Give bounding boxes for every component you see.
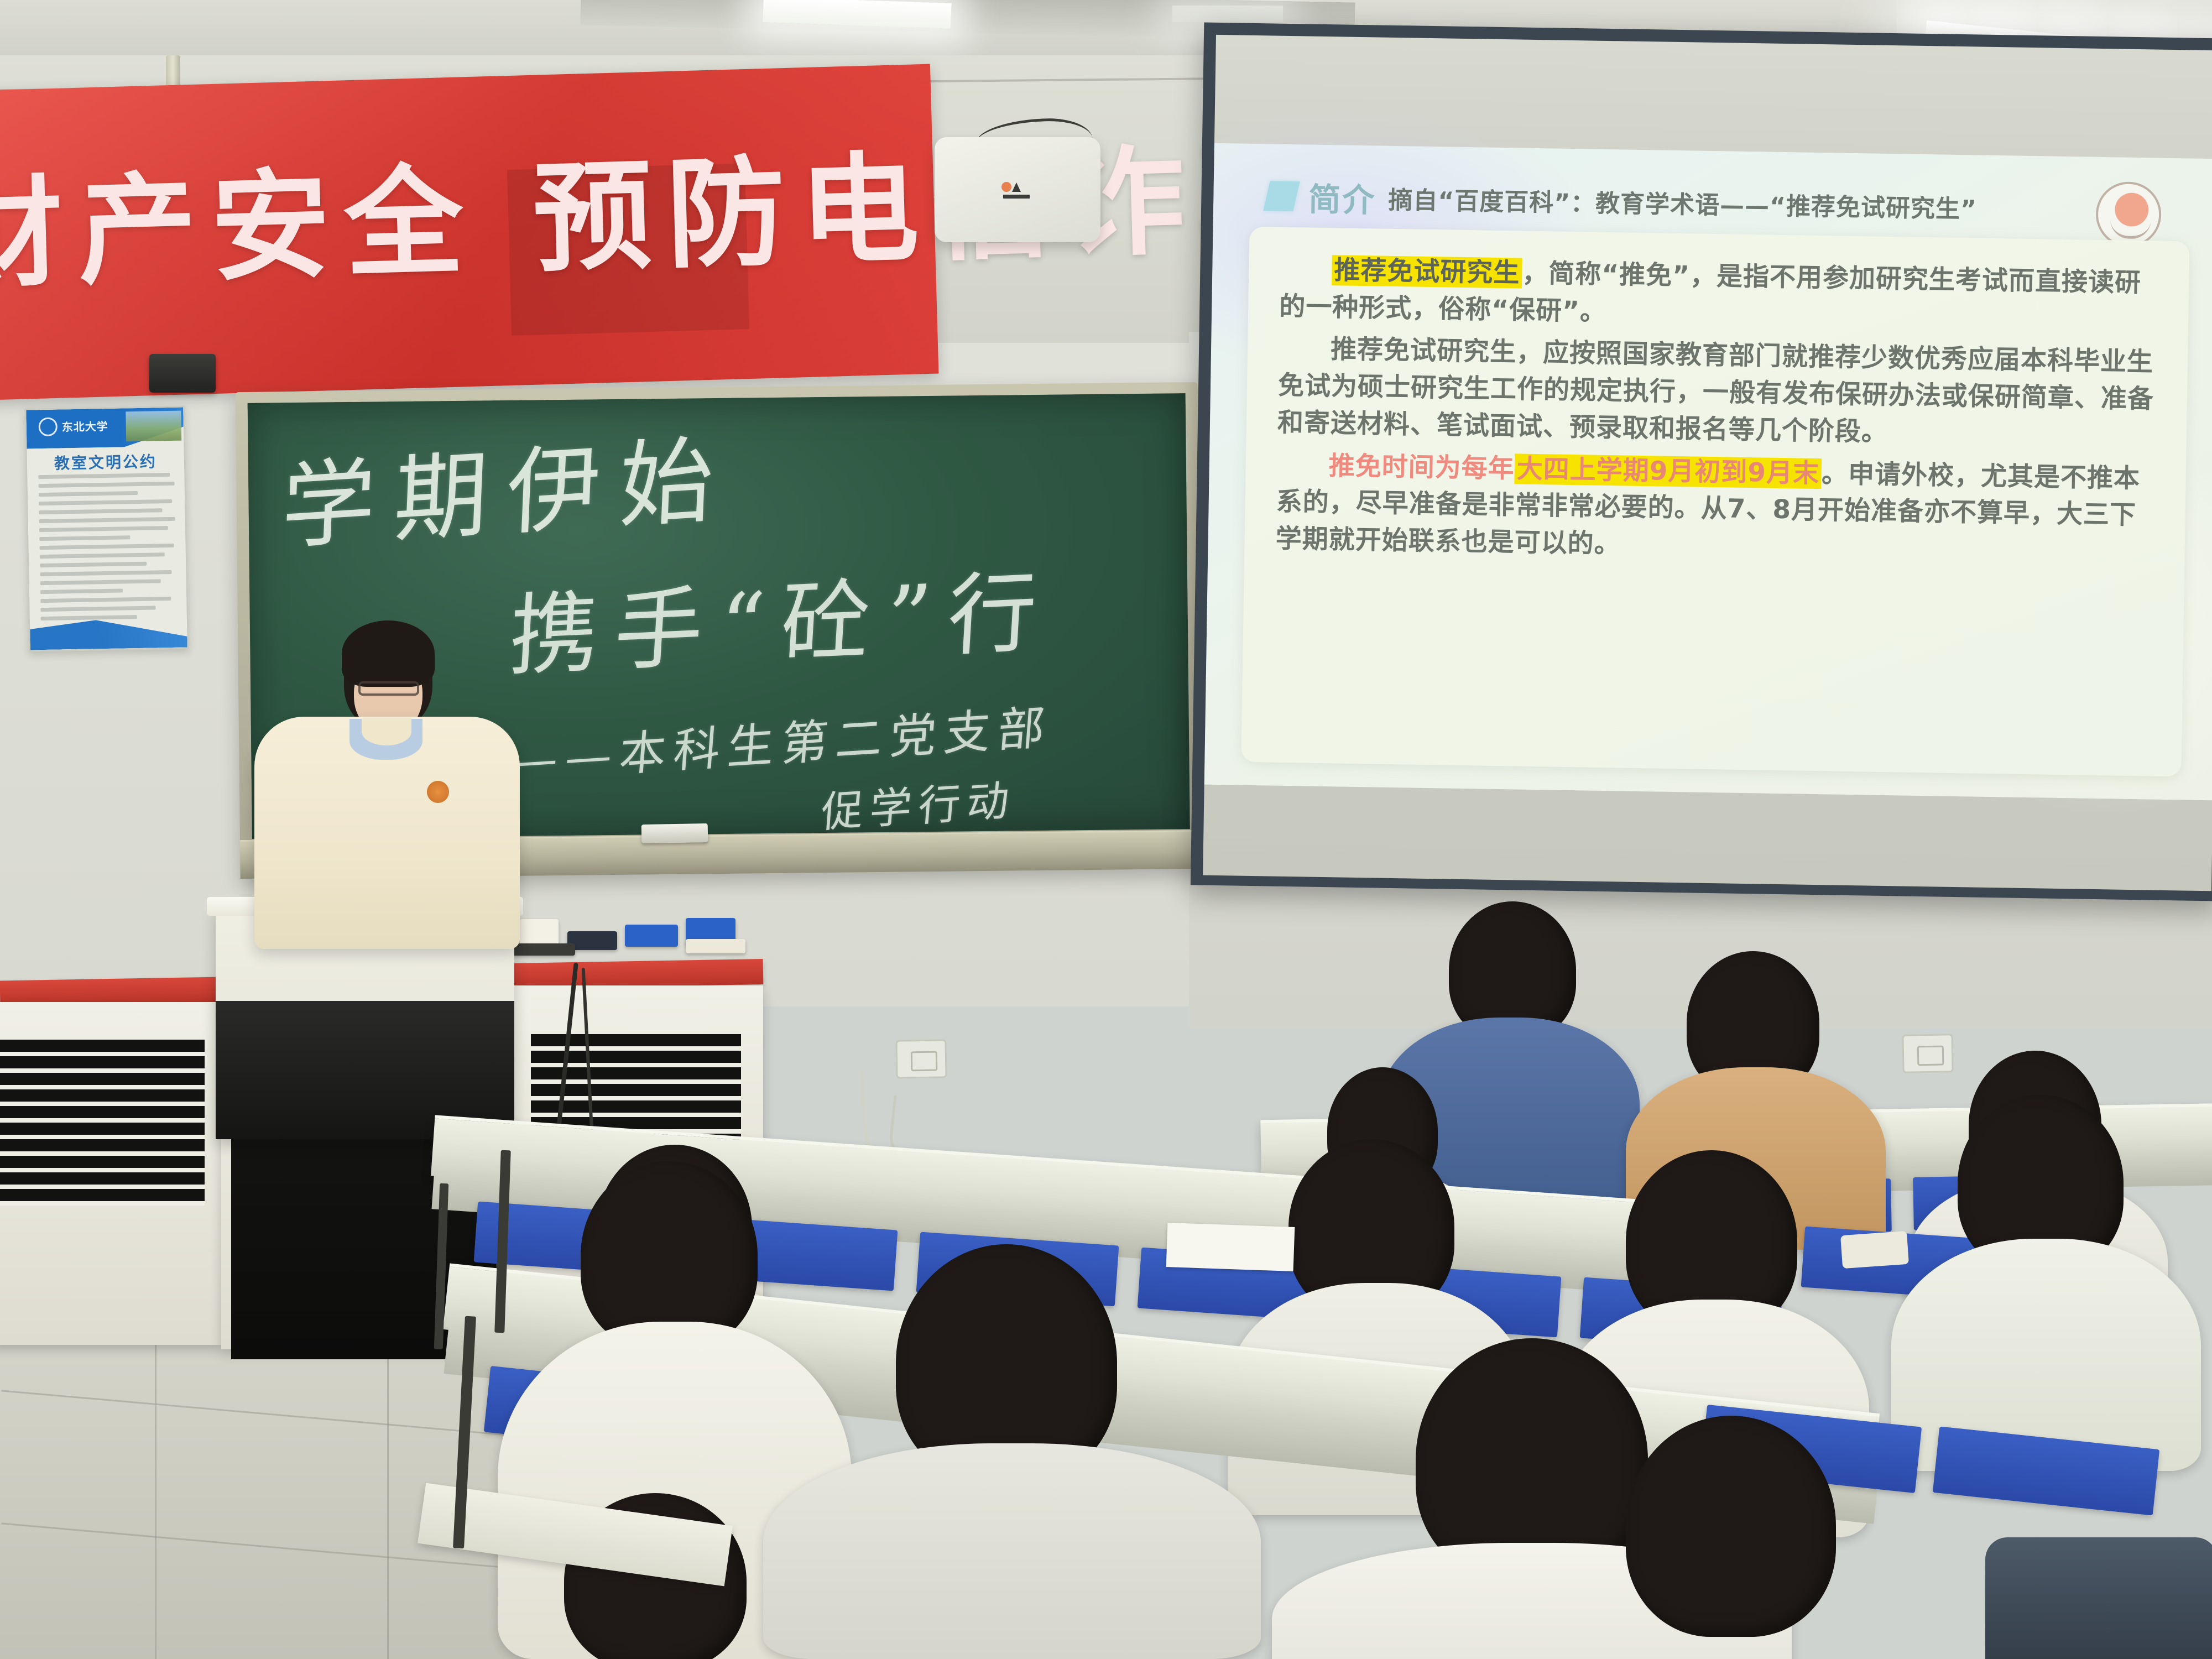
presentation-slide: 简介 摘自“百度百科”：教育学术语——“推荐免试研究生” 推荐免试研究生，简称“… (1204, 143, 2212, 801)
projection-screen: 简介 摘自“百度百科”：教育学术语——“推荐免试研究生” 推荐免试研究生，简称“… (1191, 22, 2212, 901)
slide-p1-highlight: 推荐免试研究生 (1332, 255, 1522, 288)
backpack (1985, 1537, 2212, 1659)
student-torso (763, 1443, 1261, 1659)
slide-paragraph-1: 推荐免试研究生，简称“推免”，是指不用参加研究生考试而直接读研的一种形式，俗称“… (1279, 252, 2158, 339)
slide-paragraph-2: 推荐免试研究生，应按照国家教育部门就推荐少数优秀应届本科毕业生免试为硕士研究生工… (1277, 331, 2157, 455)
slide-paragraph-3: 推免时间为每年大四上学期9月初到9月末。申请外校，尤其是不推本系的，尽早准备是非… (1275, 447, 2155, 571)
slide-header-keyword: 简介 (1308, 174, 1376, 221)
chalkboard-eraser (641, 823, 708, 843)
slide-header: 简介 摘自“百度百科”：教育学术语——“推荐免试研究生” (1266, 173, 1978, 230)
wall-outlet (1902, 1034, 1953, 1073)
chalk-line-4: 促学行动 (819, 766, 1018, 839)
slide-p3-red-highlight: 大四上学期9月初到9月末 (1514, 453, 1822, 489)
presenter-sweater-neckline (362, 718, 411, 745)
presenter-badge (427, 781, 449, 803)
slide-organization-logo-icon (2095, 181, 2162, 248)
banner-text: 财产安全 预防电信诈骗 (0, 113, 898, 311)
projector (935, 137, 1100, 242)
notice-university-label: 东北大学 (62, 418, 108, 434)
slide-p2-text: 推荐免试研究生，应按照国家教育部门就推荐少数优秀应届本科毕业生免试为硕士研究生工… (1277, 335, 2154, 447)
ceiling-light-fixture (1172, 6, 1283, 22)
projector-brand-logo (1000, 180, 1034, 201)
desk-items (520, 935, 752, 968)
chalk-line-1: 学期伊始 (279, 403, 735, 567)
notebook (686, 939, 745, 953)
red-banner: 财产安全 预防电信诈骗 (0, 64, 938, 401)
wall-speaker (149, 354, 216, 393)
slide-header-subtitle: 摘自“百度百科”：教育学术语——“推荐免试研究生” (1388, 180, 1978, 225)
notice-title: 教室文明公约 (27, 450, 185, 474)
blue-book (625, 925, 678, 947)
projection-screen-canvas: 简介 摘自“百度百科”：教育学术语——“推荐免试研究生” 推荐免试研究生，简称“… (1203, 35, 2212, 891)
slide-header-accent-bar (1263, 181, 1300, 211)
notice-campus-photo (126, 411, 181, 442)
chalk-line-2: 携手“砼”行 (506, 540, 1057, 693)
notice-body-text (38, 473, 178, 625)
slide-content-card: 推荐免试研究生，简称“推免”，是指不用参加研究生考试而直接读研的一种形式，俗称“… (1241, 227, 2189, 777)
presenter-hair (342, 620, 435, 687)
classroom-scene: 财产安全 预防电信诈骗 东北大学 教室文明公约 (0, 0, 2212, 1659)
student-head (581, 1161, 758, 1349)
student-torso (1891, 1239, 2201, 1471)
cabinet-vent-panel (0, 1040, 205, 1206)
open-notebook (1166, 1223, 1295, 1271)
student-head (1626, 1416, 1836, 1637)
desk-item (1840, 1231, 1909, 1269)
glasses-icon (358, 681, 419, 696)
classroom-notice-board: 东北大学 教室文明公约 (24, 406, 189, 652)
slide-p3-red: 推免时间为每年 (1328, 451, 1515, 484)
